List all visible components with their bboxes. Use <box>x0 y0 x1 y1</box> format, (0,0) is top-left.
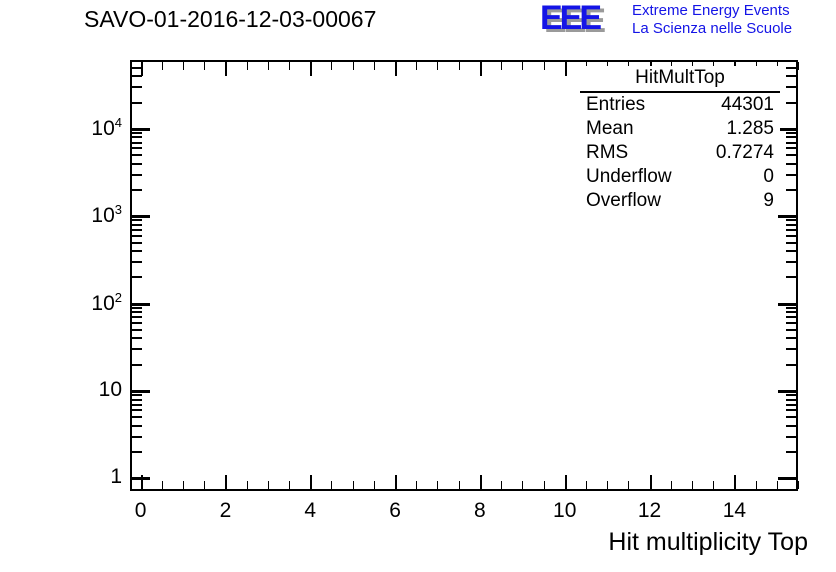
eee-logo-line1: Extreme Energy Events <box>632 2 792 20</box>
y-tick-minor <box>132 436 142 438</box>
y-tick-minor <box>786 416 796 418</box>
y-tick-minor <box>786 67 796 69</box>
y-tick-minor <box>786 136 796 138</box>
x-axis-tick-label: 10 <box>553 499 576 523</box>
y-tick-minor <box>786 425 796 427</box>
y-tick-major <box>132 128 150 131</box>
x-tick-minor <box>522 481 523 489</box>
y-tick-minor <box>132 229 142 231</box>
x-tick-major-top <box>395 62 397 76</box>
y-tick-minor <box>132 425 142 427</box>
x-axis-title: Hit multiplicity Top <box>608 528 808 557</box>
plot-canvas: SAVO-01-2016-12-03-00067 EEE EEE Extreme… <box>0 0 836 572</box>
y-tick-minor <box>132 60 142 62</box>
y-tick-minor <box>786 235 796 237</box>
y-tick-minor <box>132 394 142 396</box>
stats-row: Entries44301 <box>580 93 780 117</box>
x-tick-minor <box>331 481 332 489</box>
y-tick-minor <box>132 276 142 278</box>
x-tick-major <box>650 475 652 489</box>
x-tick-minor <box>268 481 269 489</box>
y-axis-tick-label: 103 <box>40 202 122 228</box>
x-tick-minor <box>374 481 375 489</box>
y-tick-major <box>132 215 150 218</box>
y-tick-major <box>778 303 796 306</box>
eee-logo-foreground: EEE <box>540 1 599 35</box>
eee-logo-line2: La Scienza nelle Scuole <box>632 20 792 38</box>
y-tick-minor <box>132 86 142 88</box>
x-tick-minor-top <box>289 62 290 70</box>
y-tick-minor <box>132 67 142 69</box>
x-axis-tick-label: 6 <box>389 499 401 523</box>
y-tick-minor <box>786 399 796 401</box>
y-tick-minor <box>786 132 796 134</box>
y-tick-minor <box>132 163 142 165</box>
y-tick-minor <box>786 364 796 366</box>
y-tick-minor <box>786 261 796 263</box>
x-tick-minor-top <box>798 62 799 70</box>
y-tick-major <box>132 390 150 393</box>
x-tick-minor <box>756 481 757 489</box>
x-tick-minor <box>586 481 587 489</box>
x-axis-tick-label: 0 <box>135 499 147 523</box>
y-tick-minor <box>132 142 142 144</box>
y-tick-minor <box>786 276 796 278</box>
y-tick-minor <box>132 451 142 453</box>
stats-key: Overflow <box>586 190 661 212</box>
y-tick-minor <box>786 409 796 411</box>
x-tick-minor <box>501 481 502 489</box>
x-tick-major-top <box>565 62 567 76</box>
page-title: SAVO-01-2016-12-03-00067 <box>84 6 376 33</box>
y-tick-minor <box>786 394 796 396</box>
y-tick-minor <box>786 316 796 318</box>
x-tick-minor <box>162 481 163 489</box>
x-tick-minor-top <box>459 62 460 70</box>
x-tick-major-top <box>310 62 312 76</box>
y-tick-minor <box>786 311 796 313</box>
stats-key: Entries <box>586 94 645 116</box>
stats-value: 9 <box>763 190 774 212</box>
y-tick-major <box>778 128 796 131</box>
y-tick-major <box>778 215 796 218</box>
y-axis-tick-label: 10 <box>40 378 122 402</box>
y-tick-minor <box>786 102 796 104</box>
x-axis-tick-label: 12 <box>638 499 661 523</box>
y-tick-minor <box>786 219 796 221</box>
x-tick-major-top <box>225 62 227 76</box>
y-tick-minor <box>132 409 142 411</box>
x-tick-minor-top <box>331 62 332 70</box>
x-tick-minor <box>416 481 417 489</box>
x-tick-minor <box>777 481 778 489</box>
y-tick-minor <box>786 436 796 438</box>
x-tick-minor <box>183 481 184 489</box>
x-tick-minor-top <box>204 62 205 70</box>
stats-row: Mean1.285 <box>580 117 780 141</box>
x-tick-minor <box>247 481 248 489</box>
x-tick-minor <box>798 481 799 489</box>
x-tick-major <box>310 475 312 489</box>
y-tick-minor <box>132 364 142 366</box>
y-tick-minor <box>132 261 142 263</box>
y-tick-minor <box>786 229 796 231</box>
y-tick-minor <box>786 329 796 331</box>
y-tick-minor <box>132 322 142 324</box>
eee-logo-letters: EEE EEE <box>540 4 628 38</box>
x-axis-tick-label: 14 <box>723 499 746 523</box>
x-tick-minor <box>459 481 460 489</box>
y-tick-minor <box>132 224 142 226</box>
x-tick-major <box>734 475 736 489</box>
y-tick-minor <box>786 174 796 176</box>
y-tick-minor <box>132 404 142 406</box>
y-tick-minor <box>132 416 142 418</box>
x-tick-major-top <box>480 62 482 76</box>
y-tick-minor <box>786 154 796 156</box>
stats-value: 44301 <box>721 94 774 116</box>
y-tick-minor <box>786 147 796 149</box>
stats-row: RMS0.7274 <box>580 141 780 165</box>
y-tick-minor <box>132 250 142 252</box>
x-tick-minor <box>713 481 714 489</box>
y-tick-minor <box>132 132 142 134</box>
x-tick-minor-top <box>501 62 502 70</box>
stats-key: Underflow <box>586 166 672 188</box>
x-axis-tick-label: 8 <box>474 499 486 523</box>
x-tick-minor <box>289 481 290 489</box>
y-tick-major <box>132 303 150 306</box>
y-tick-minor <box>786 451 796 453</box>
y-tick-minor <box>786 348 796 350</box>
y-tick-minor <box>786 404 796 406</box>
x-tick-minor <box>671 481 672 489</box>
eee-logo-text: Extreme Energy Events La Scienza nelle S… <box>632 2 792 38</box>
stats-title: HitMultTop <box>580 66 780 93</box>
x-tick-minor-top <box>162 62 163 70</box>
y-tick-minor <box>132 316 142 318</box>
x-tick-minor-top <box>416 62 417 70</box>
x-tick-minor-top <box>544 62 545 70</box>
x-tick-minor <box>628 481 629 489</box>
x-tick-minor <box>692 481 693 489</box>
y-tick-major <box>778 390 796 393</box>
x-tick-minor-top <box>353 62 354 70</box>
y-tick-minor <box>132 174 142 176</box>
stats-value: 0.7274 <box>716 142 774 164</box>
x-tick-minor <box>204 481 205 489</box>
stats-row: Overflow9 <box>580 189 780 213</box>
y-tick-minor <box>786 307 796 309</box>
stats-box: HitMultTop Entries44301Mean1.285RMS0.727… <box>580 66 780 213</box>
y-axis-tick-label: 104 <box>40 115 122 141</box>
y-tick-minor <box>132 329 142 331</box>
x-tick-minor <box>607 481 608 489</box>
x-tick-minor-top <box>374 62 375 70</box>
x-tick-minor-top <box>437 62 438 70</box>
stats-value: 1.285 <box>726 118 774 140</box>
y-axis-tick-label: 102 <box>40 290 122 316</box>
x-axis-tick-label: 2 <box>220 499 232 523</box>
y-tick-minor <box>132 337 142 339</box>
x-tick-major <box>480 475 482 489</box>
y-tick-minor <box>132 147 142 149</box>
x-tick-major <box>565 475 567 489</box>
x-tick-minor-top <box>183 62 184 70</box>
y-tick-minor <box>786 242 796 244</box>
y-tick-minor <box>786 337 796 339</box>
y-tick-minor <box>786 163 796 165</box>
y-tick-minor <box>132 102 142 104</box>
eee-logo: EEE EEE Extreme Energy Events La Scienza… <box>540 2 834 40</box>
y-tick-minor <box>786 142 796 144</box>
x-tick-minor <box>544 481 545 489</box>
y-tick-minor <box>132 307 142 309</box>
y-tick-minor <box>132 136 142 138</box>
y-tick-major <box>778 477 796 480</box>
y-tick-major <box>132 477 150 480</box>
y-tick-minor <box>132 399 142 401</box>
x-axis-tick-label: 4 <box>304 499 316 523</box>
x-tick-major <box>395 475 397 489</box>
y-tick-minor <box>786 75 796 77</box>
stats-row: Underflow0 <box>580 165 780 189</box>
y-tick-minor <box>132 189 142 191</box>
y-tick-minor <box>132 311 142 313</box>
y-tick-minor <box>786 322 796 324</box>
y-tick-minor <box>132 75 142 77</box>
y-tick-minor <box>132 348 142 350</box>
y-tick-minor <box>132 219 142 221</box>
stats-value: 0 <box>763 166 774 188</box>
y-axis-tick-label: 1 <box>40 465 122 489</box>
y-tick-minor <box>786 250 796 252</box>
x-tick-minor <box>437 481 438 489</box>
stats-key: RMS <box>586 142 628 164</box>
y-tick-minor <box>786 189 796 191</box>
x-tick-minor-top <box>268 62 269 70</box>
y-tick-minor <box>786 86 796 88</box>
y-tick-minor <box>132 154 142 156</box>
y-tick-minor <box>786 60 796 62</box>
stats-rows: Entries44301Mean1.285RMS0.7274Underflow0… <box>580 93 780 213</box>
x-tick-major <box>225 475 227 489</box>
y-tick-minor <box>132 235 142 237</box>
x-tick-minor-top <box>247 62 248 70</box>
y-tick-minor <box>786 224 796 226</box>
x-tick-major-top <box>141 62 143 76</box>
y-tick-minor <box>132 242 142 244</box>
x-tick-minor-top <box>522 62 523 70</box>
stats-key: Mean <box>586 118 634 140</box>
x-tick-minor <box>353 481 354 489</box>
